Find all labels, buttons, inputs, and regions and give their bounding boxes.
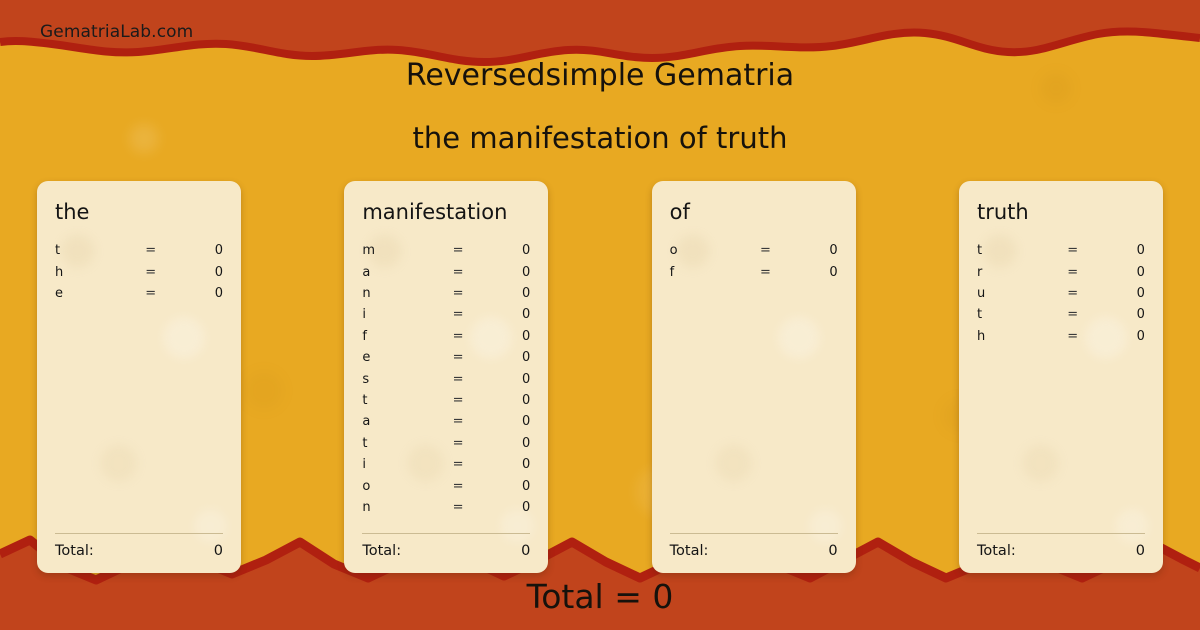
word-cards-container: the t = 0 h = 0 e = 0 Total: 0 mani (0, 181, 1200, 573)
card-divider (362, 533, 530, 534)
card-total-value: 0 (214, 543, 223, 559)
letter-char: u (977, 286, 1051, 301)
letter-value: 0 (1095, 307, 1145, 322)
letter-char: t (362, 436, 436, 451)
letter-value: 0 (480, 414, 530, 429)
letter-row: n = 0 (362, 283, 530, 304)
equals-sign: = (129, 243, 173, 258)
card-total-label: Total: (977, 543, 1016, 559)
equals-sign: = (1051, 265, 1095, 280)
letter-char: s (362, 372, 436, 387)
equals-sign: = (436, 286, 480, 301)
letter-row: n = 0 (362, 497, 530, 518)
letter-char: t (55, 243, 129, 258)
letter-value: 0 (1095, 265, 1145, 280)
letter-row: m = 0 (362, 240, 530, 261)
equals-sign: = (744, 243, 788, 258)
equals-sign: = (436, 479, 480, 494)
card-divider (977, 533, 1145, 534)
letter-row: e = 0 (362, 347, 530, 368)
equals-sign: = (436, 265, 480, 280)
equals-sign: = (436, 372, 480, 387)
equals-sign: = (436, 243, 480, 258)
equals-sign: = (129, 286, 173, 301)
letter-value: 0 (173, 265, 223, 280)
letter-char: a (362, 265, 436, 280)
word-card[interactable]: manifestation m = 0 a = 0 n = 0 i = 0 (344, 181, 548, 573)
letter-row: r = 0 (977, 261, 1145, 282)
letter-value: 0 (173, 243, 223, 258)
card-total-label: Total: (670, 543, 709, 559)
letter-char: o (670, 243, 744, 258)
letter-char: n (362, 500, 436, 515)
equals-sign: = (436, 414, 480, 429)
letter-row: t = 0 (977, 240, 1145, 261)
letter-char: f (670, 265, 744, 280)
letter-value: 0 (1095, 243, 1145, 258)
letter-value: 0 (480, 436, 530, 451)
letter-value-list: o = 0 f = 0 (670, 240, 838, 527)
letter-row: i = 0 (362, 304, 530, 325)
card-total-row: Total: 0 (977, 543, 1145, 559)
card-total-label: Total: (55, 543, 94, 559)
letter-char: a (362, 414, 436, 429)
page-title: Reversedsimple Gematria (0, 58, 1200, 93)
letter-char: m (362, 243, 436, 258)
letter-value-list: m = 0 a = 0 n = 0 i = 0 f = 0 (362, 240, 530, 527)
letter-char: t (977, 307, 1051, 322)
letter-row: a = 0 (362, 261, 530, 282)
letter-value: 0 (1095, 286, 1145, 301)
grand-total: Total = 0 (0, 577, 1200, 616)
letter-value: 0 (173, 286, 223, 301)
equals-sign: = (436, 457, 480, 472)
letter-row: f = 0 (670, 261, 838, 282)
letter-value: 0 (480, 372, 530, 387)
letter-row: t = 0 (362, 433, 530, 454)
letter-char: i (362, 307, 436, 322)
word-card[interactable]: truth t = 0 r = 0 u = 0 t = 0 (959, 181, 1163, 573)
letter-char: t (362, 393, 436, 408)
equals-sign: = (1051, 307, 1095, 322)
equals-sign: = (436, 393, 480, 408)
letter-value: 0 (480, 243, 530, 258)
letter-char: h (55, 265, 129, 280)
word-card[interactable]: the t = 0 h = 0 e = 0 Total: 0 (37, 181, 241, 573)
card-total-label: Total: (362, 543, 401, 559)
word-card[interactable]: of o = 0 f = 0 Total: 0 (652, 181, 856, 573)
letter-row: h = 0 (55, 261, 223, 282)
letter-value: 0 (480, 393, 530, 408)
card-word-title: of (670, 201, 838, 224)
letter-row: i = 0 (362, 454, 530, 475)
card-word-title: manifestation (362, 201, 530, 224)
equals-sign: = (1051, 286, 1095, 301)
letter-value: 0 (1095, 329, 1145, 344)
card-total-value: 0 (828, 543, 837, 559)
letter-value: 0 (787, 265, 837, 280)
letter-value: 0 (480, 500, 530, 515)
letter-row: u = 0 (977, 283, 1145, 304)
card-divider (55, 533, 223, 534)
equals-sign: = (436, 329, 480, 344)
card-total-row: Total: 0 (362, 543, 530, 559)
equals-sign: = (129, 265, 173, 280)
card-word-title: truth (977, 201, 1145, 224)
equals-sign: = (436, 436, 480, 451)
letter-row: o = 0 (670, 240, 838, 261)
equals-sign: = (744, 265, 788, 280)
letter-row: a = 0 (362, 411, 530, 432)
letter-value-list: t = 0 r = 0 u = 0 t = 0 h = 0 (977, 240, 1145, 527)
equals-sign: = (436, 350, 480, 365)
letter-row: s = 0 (362, 368, 530, 389)
equals-sign: = (436, 307, 480, 322)
letter-row: t = 0 (977, 304, 1145, 325)
letter-value: 0 (480, 329, 530, 344)
equals-sign: = (1051, 243, 1095, 258)
letter-row: o = 0 (362, 475, 530, 496)
card-total-value: 0 (521, 543, 530, 559)
equals-sign: = (1051, 329, 1095, 344)
card-total-row: Total: 0 (670, 543, 838, 559)
letter-value: 0 (480, 479, 530, 494)
letter-value: 0 (480, 286, 530, 301)
letter-char: e (55, 286, 129, 301)
letter-row: f = 0 (362, 326, 530, 347)
letter-value: 0 (480, 350, 530, 365)
letter-value: 0 (480, 307, 530, 322)
letter-row: t = 0 (55, 240, 223, 261)
card-total-row: Total: 0 (55, 543, 223, 559)
letter-char: h (977, 329, 1051, 344)
site-brand[interactable]: GematriaLab.com (40, 22, 193, 42)
letter-char: t (977, 243, 1051, 258)
card-divider (670, 533, 838, 534)
equals-sign: = (436, 500, 480, 515)
letter-row: e = 0 (55, 283, 223, 304)
letter-value: 0 (480, 265, 530, 280)
letter-char: r (977, 265, 1051, 280)
letter-row: t = 0 (362, 390, 530, 411)
letter-value: 0 (787, 243, 837, 258)
letter-char: n (362, 286, 436, 301)
card-total-value: 0 (1136, 543, 1145, 559)
card-word-title: the (55, 201, 223, 224)
letter-char: o (362, 479, 436, 494)
letter-char: e (362, 350, 436, 365)
letter-char: f (362, 329, 436, 344)
letter-value: 0 (480, 457, 530, 472)
page-subtitle: the manifestation of truth (0, 121, 1200, 155)
letter-row: h = 0 (977, 326, 1145, 347)
letter-char: i (362, 457, 436, 472)
letter-value-list: t = 0 h = 0 e = 0 (55, 240, 223, 527)
